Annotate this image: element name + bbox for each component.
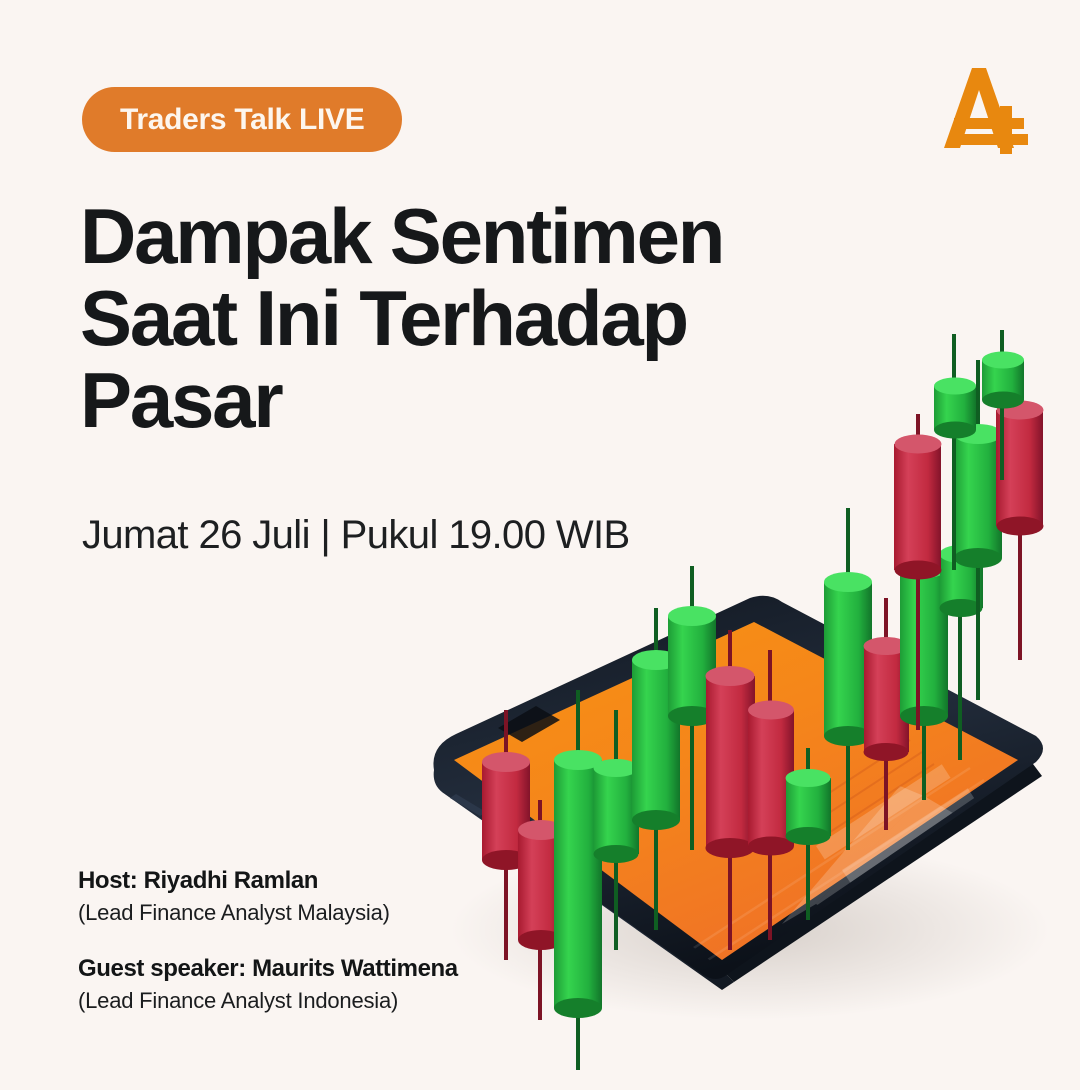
live-badge[interactable]: Traders Talk LIVE	[82, 87, 402, 152]
poster-canvas: Traders Talk LIVE Dampak Sentimen Saat I…	[0, 0, 1080, 1080]
live-badge-label: Traders Talk LIVE	[120, 103, 364, 137]
host-name: Host: Riyadhi Ramlan	[78, 866, 548, 896]
guest-name: Guest speaker: Maurits Wattimena	[78, 954, 548, 984]
ascend-a-logo-icon	[928, 62, 1032, 162]
host-credit: Host: Riyadhi Ramlan (Lead Finance Analy…	[78, 866, 548, 928]
host-role: (Lead Finance Analyst Malaysia)	[78, 899, 548, 928]
credits-block: Host: Riyadhi Ramlan (Lead Finance Analy…	[78, 866, 548, 1041]
guest-role: (Lead Finance Analyst Indonesia)	[78, 987, 548, 1016]
guest-credit: Guest speaker: Maurits Wattimena (Lead F…	[78, 954, 548, 1016]
title-line-1: Dampak Sentimen	[80, 196, 840, 278]
brand-logo	[928, 62, 1032, 162]
